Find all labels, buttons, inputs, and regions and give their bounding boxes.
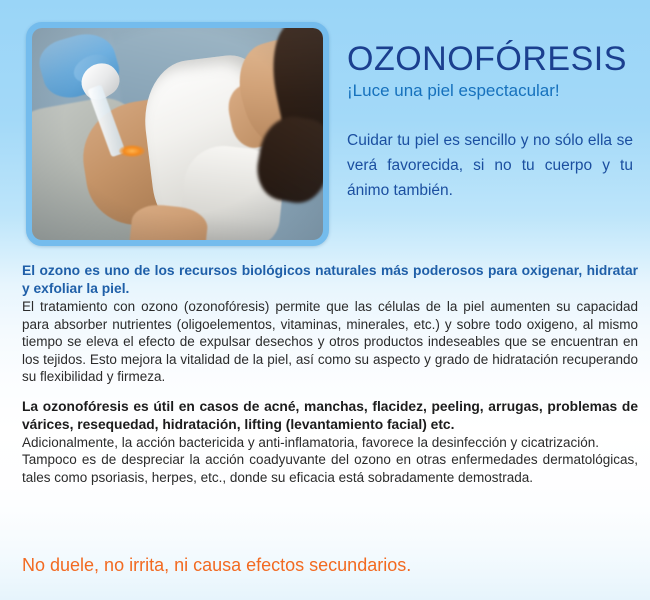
page-subtitle: ¡Luce una piel espectacular!: [347, 80, 643, 102]
hero-lede-text: Cuidar tu piel es sencillo y no sólo ell…: [347, 128, 633, 203]
body-paragraph-2: Adicionalmente, la acción bactericida y …: [22, 434, 638, 452]
content-section: El ozono es uno de los recursos biológic…: [22, 262, 638, 486]
treatment-photo-frame: [26, 22, 329, 246]
closing-statement: No duele, no irrita, ni causa efectos se…: [22, 553, 411, 577]
page-title: OZONOFÓRESIS: [347, 40, 643, 78]
promo-page: OZONOFÓRESIS ¡Luce una piel espectacular…: [0, 0, 650, 600]
body-paragraph-3: Tampoco es de despreciar la acción coady…: [22, 451, 638, 486]
hero-section: OZONOFÓRESIS ¡Luce una piel espectacular…: [0, 0, 650, 252]
intro-highlight-paragraph: El ozono es uno de los recursos biológic…: [22, 262, 638, 298]
treatment-photo: [32, 28, 323, 240]
hero-text-block: OZONOFÓRESIS ¡Luce una piel espectacular…: [347, 40, 643, 203]
indications-paragraph: La ozonofóresis es útil en casos de acné…: [22, 398, 638, 434]
body-paragraph-1: El tratamiento con ozono (ozonofóresis) …: [22, 298, 638, 386]
photo-vignette: [32, 28, 323, 240]
